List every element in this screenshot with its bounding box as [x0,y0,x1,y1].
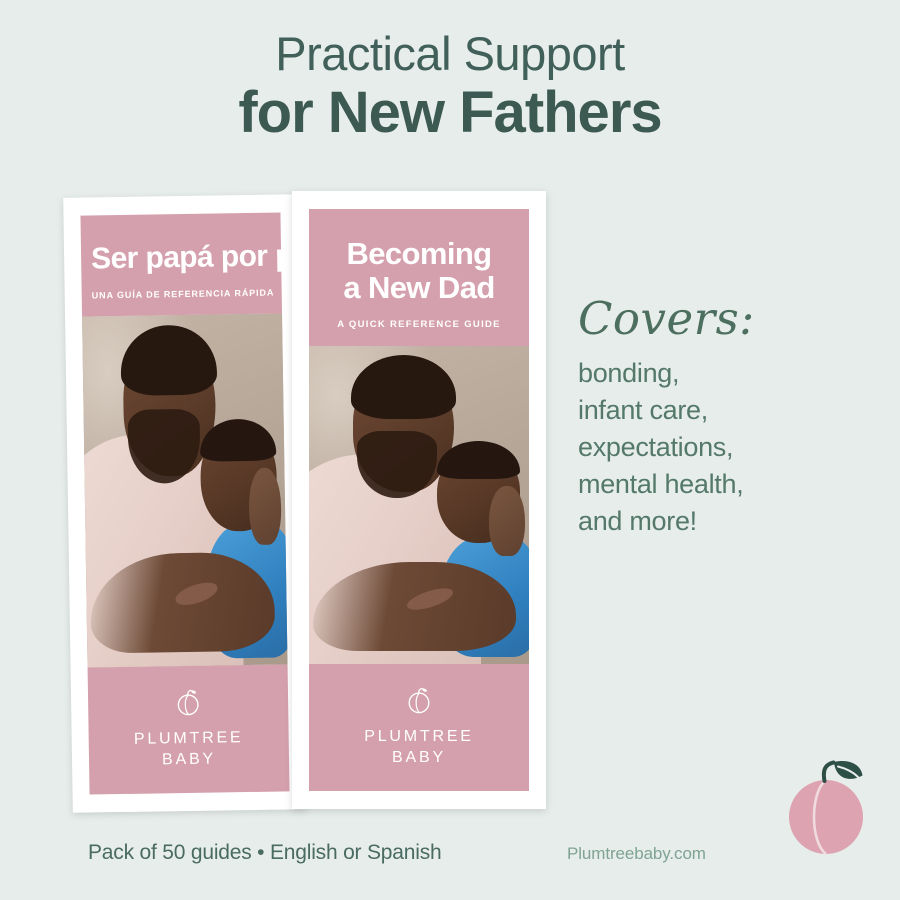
brochure-header-spanish: Ser papá por primera vez UNA GUÍA DE REF… [80,212,282,316]
peach-logo-icon [772,748,880,856]
brochure-title-spanish: Ser papá por primera vez [91,241,271,277]
covers-block: Covers: bonding, infant care, expectatio… [578,296,878,540]
brochure-footer-english: PLUMTREE BABY [309,664,529,791]
brochure-photo-english [309,346,529,664]
photo-fathers-hand [489,486,524,556]
brochure-card-english[interactable]: Becoming a New Dad A QUICK REFERENCE GUI… [292,191,546,809]
brand-line-2: BABY [99,748,279,772]
brand-wordmark-spanish: PLUMTREE BABY [99,726,280,772]
father-and-baby-photo [82,313,287,667]
page-title: Practical Support for New Fathers [0,26,900,146]
pack-info-text: Pack of 50 guides • English or Spanish [88,841,441,865]
brand-line-1: PLUMTREE [99,726,279,750]
brochure-title-line-1: Ser papá [91,241,213,276]
covers-item-3: mental health, [578,466,878,503]
brochure-inner-spanish: Ser papá por primera vez UNA GUÍA DE REF… [80,212,289,794]
brand-line-1: PLUMTREE [319,726,519,748]
photo-fathers-hand [248,468,281,546]
headline-line-2: for New Fathers [0,81,900,146]
brochure-subtitle-spanish: UNA GUÍA DE REFERENCIA RÁPIDA [92,287,272,300]
covers-item-0: bonding, [578,355,878,392]
covers-list: bonding, infant care, expectations, ment… [578,355,878,540]
covers-item-4: and more! [578,503,878,540]
website-url-text: Plumtreebaby.com [567,844,706,864]
brochure-subtitle-english: A QUICK REFERENCE GUIDE [319,319,519,330]
brochure-card-spanish[interactable]: Ser papá por primera vez UNA GUÍA DE REF… [63,194,307,813]
brochure-title-english: Becoming a New Dad [319,237,519,305]
peach-icon [171,684,206,719]
brochure-footer-spanish: PLUMTREE BABY [88,664,290,794]
covers-item-1: infant care, [578,392,878,429]
father-and-baby-photo [309,346,529,664]
brochure-photo-spanish [82,313,287,667]
poster-canvas: Practical Support for New Fathers Ser pa… [0,0,900,900]
brochure-inner-english: Becoming a New Dad A QUICK REFERENCE GUI… [309,209,529,791]
headline-line-1: Practical Support [0,26,900,81]
covers-item-2: expectations, [578,429,878,466]
covers-heading: Covers: [578,296,878,341]
brochure-title-line-1: Becoming [346,236,491,271]
brochure-title-line-2: a New Dad [343,270,494,305]
brand-line-2: BABY [319,747,519,769]
brand-wordmark-english: PLUMTREE BABY [319,726,519,769]
brochure-header-english: Becoming a New Dad A QUICK REFERENCE GUI… [309,209,529,346]
peach-icon [402,682,436,716]
